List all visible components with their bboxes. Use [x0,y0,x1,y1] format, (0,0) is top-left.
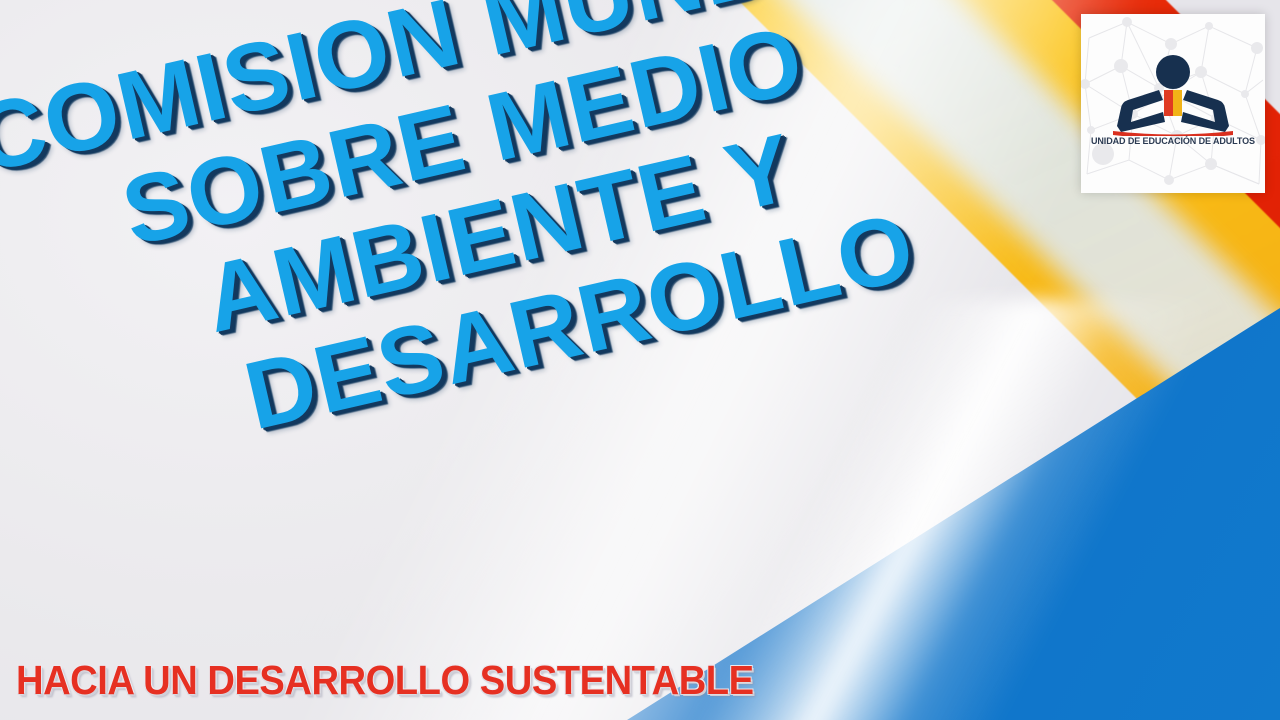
presentation-slide: COMISION MUNDIAL SOBRE MEDIO AMBIENTE Y … [0,0,1280,720]
logo-caption: UNIDAD DE EDUCACIÓN DE ADULTOS [1083,136,1263,146]
organization-logo: UNIDAD DE EDUCACIÓN DE ADULTOS [1081,14,1265,193]
slide-subtitle: HACIA UN DESARROLLO SUSTENTABLE [16,657,754,704]
reader-with-book-icon [1107,52,1239,136]
